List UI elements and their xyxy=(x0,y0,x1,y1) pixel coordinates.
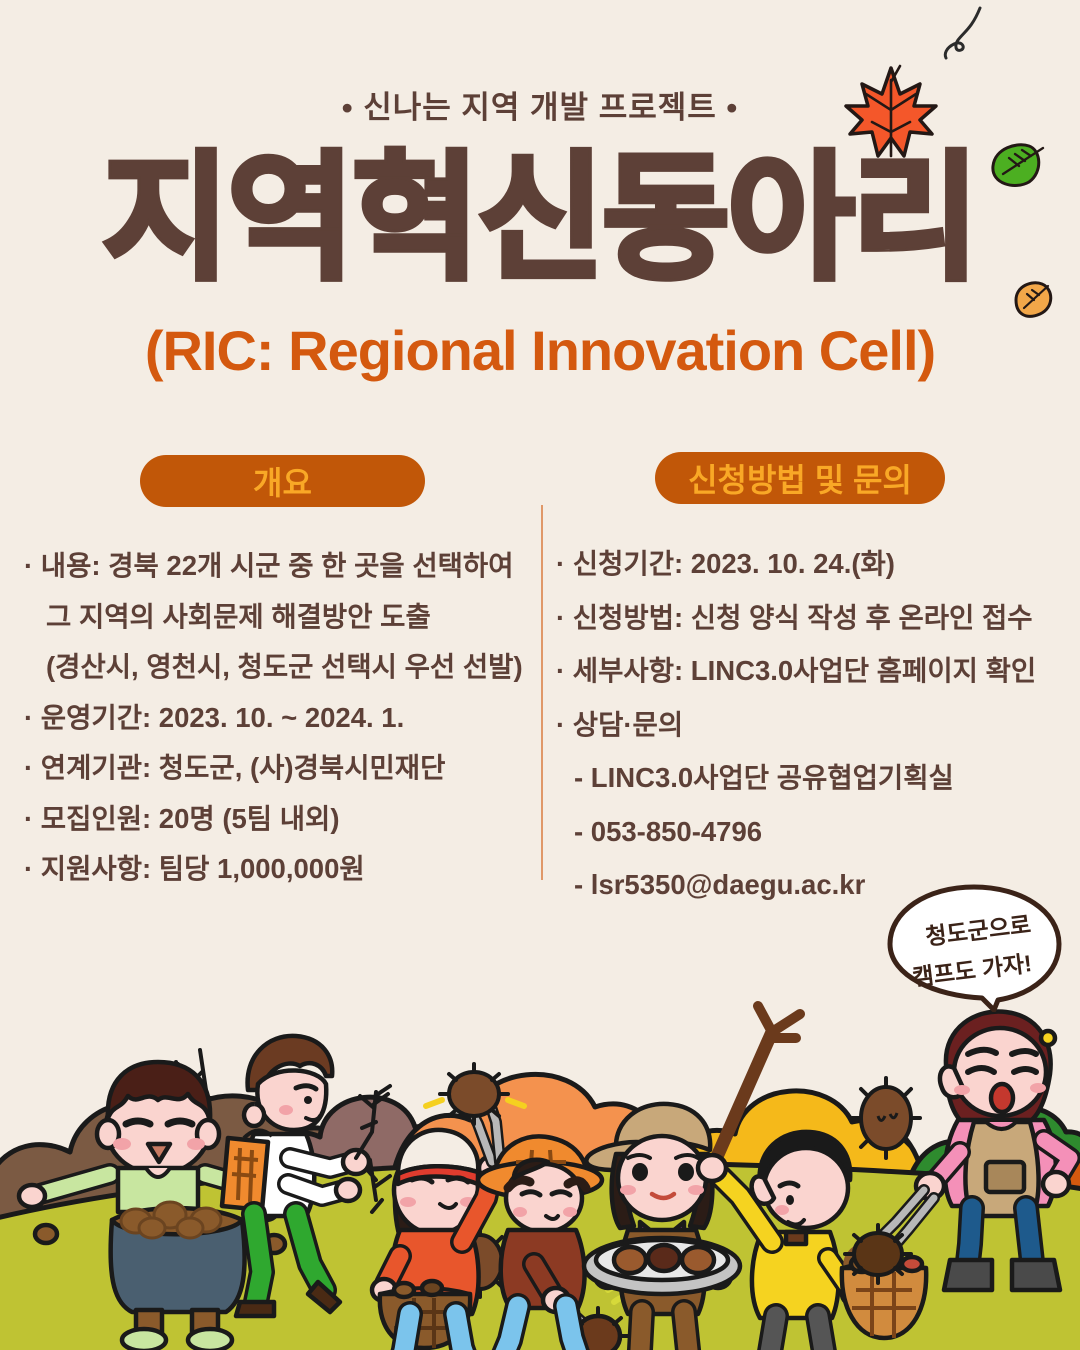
poster-eyebrow: • 신나는 지역 개발 프로젝트 • xyxy=(0,82,1080,127)
apply-content: · 신청기간: 2023. 10. 24.(화)· 신청방법: 신청 양식 작성… xyxy=(556,550,1056,925)
poster-root: • 신나는 지역 개발 프로젝트 • 지역혁신동아리 (RIC: Regiona… xyxy=(0,0,1080,1350)
overview-line-5: · 모집인원: 20명 (5팀 내외) xyxy=(24,805,534,833)
apply-line-4: - LINC3.0사업단 공유협업기획실 xyxy=(556,764,1056,792)
page-title: 지역혁신동아리 xyxy=(0,150,1080,288)
speech-bubble xyxy=(886,884,1062,1012)
apply-line-5: - 053-850-4796 xyxy=(556,818,1056,846)
column-divider xyxy=(541,505,543,880)
overview-line-3: · 운영기간: 2023. 10. ~ 2024. 1. xyxy=(24,704,534,732)
page-subtitle-english: (RIC: Regional Innovation Cell) xyxy=(0,318,1080,383)
apply-line-2: · 세부사항: LINC3.0사업단 홈페이지 확인 xyxy=(556,657,1056,685)
overview-line-4: · 연계기관: 청도군, (사)경북시민재단 xyxy=(24,754,534,782)
overview-line-1: 그 지역의 사회문제 해결방안 도출 xyxy=(24,603,534,631)
section-badge-overview: 개요 xyxy=(140,455,425,507)
apply-line-3: · 상담·문의 xyxy=(556,711,1056,739)
overview-content: · 내용: 경북 22개 시군 중 한 곳을 선택하여그 지역의 사회문제 해결… xyxy=(24,552,534,906)
apply-line-0: · 신청기간: 2023. 10. 24.(화) xyxy=(556,550,1056,578)
overview-line-2: (경산시, 영천시, 청도군 선택시 우선 선발) xyxy=(24,653,534,681)
illustration-autumn-chestnut-scene xyxy=(0,972,1080,1350)
overview-line-0: · 내용: 경북 22개 시군 중 한 곳을 선택하여 xyxy=(24,552,534,580)
section-badge-apply: 신청방법 및 문의 xyxy=(655,452,945,504)
apply-line-1: · 신청방법: 신청 양식 작성 후 온라인 접수 xyxy=(556,604,1056,632)
overview-line-6: · 지원사항: 팀당 1,000,000원 xyxy=(24,855,534,883)
